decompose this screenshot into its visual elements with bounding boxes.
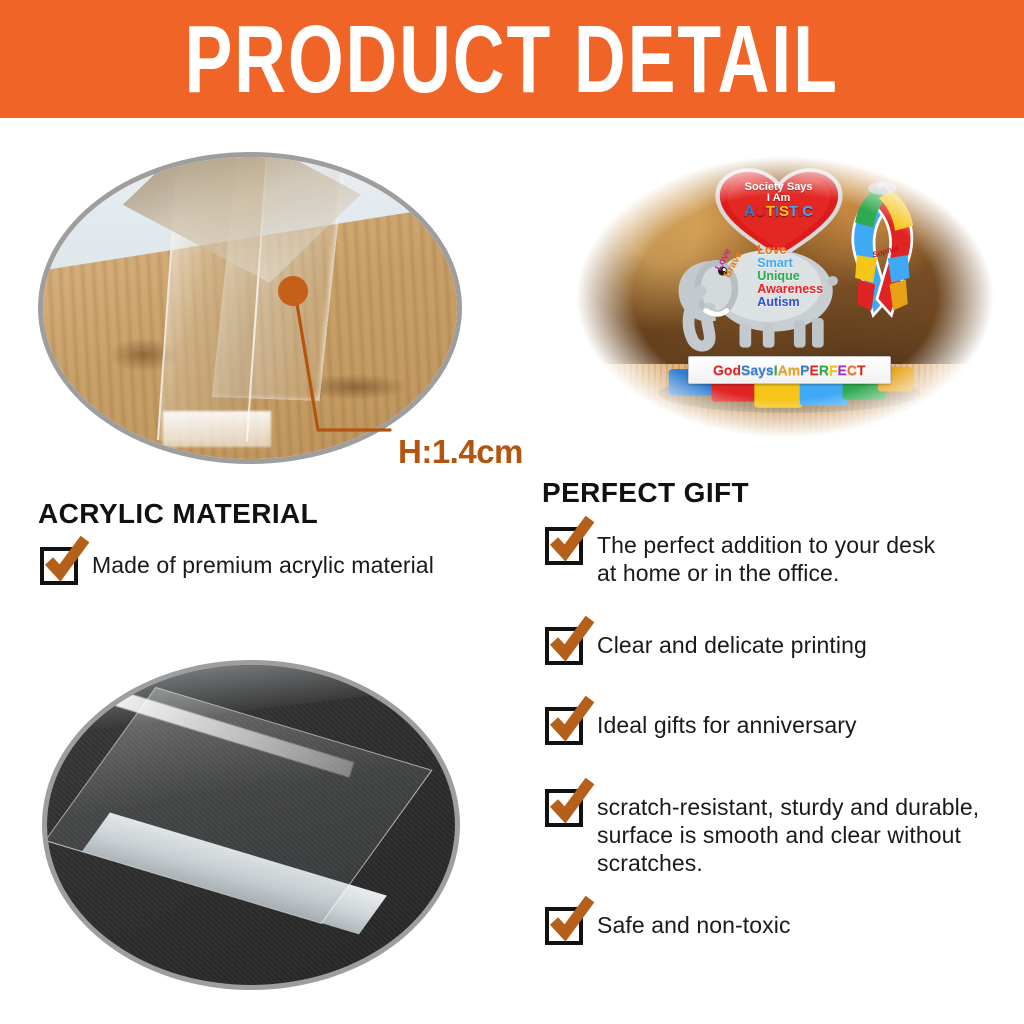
page-header-banner: PRODUCT DETAIL bbox=[0, 0, 1024, 118]
measurement-point-dot bbox=[278, 276, 308, 306]
bullet-label: Ideal gifts for anniversary bbox=[597, 705, 857, 739]
bullet-label: Made of premium acrylic material bbox=[92, 545, 434, 579]
checkbox-icon[interactable] bbox=[545, 789, 583, 827]
elephant-body-words: LoveSmartUniqueAwarenessAutism bbox=[757, 244, 823, 308]
bullet-item: scratch-resistant, sturdy and durable, s… bbox=[545, 787, 1024, 877]
checkmark-icon bbox=[546, 895, 596, 945]
base-plate-message: GodSaysIAmPERFECT bbox=[713, 362, 866, 378]
acrylic-base-glow bbox=[163, 411, 271, 447]
page-title: PRODUCT DETAIL bbox=[185, 11, 839, 106]
bullet-item: Safe and non-toxic bbox=[545, 905, 1015, 945]
bullet-label: Safe and non-toxic bbox=[597, 905, 791, 939]
checkmark-icon bbox=[546, 615, 596, 665]
wood-scene bbox=[43, 157, 457, 459]
checkmark-icon bbox=[546, 777, 596, 827]
bullet-label: The perfect addition to your desk at hom… bbox=[597, 525, 935, 587]
checkmark-icon bbox=[546, 695, 596, 745]
bullet-item: Made of premium acrylic material bbox=[40, 545, 510, 585]
section-title-perfect-gift: PERFECT GIFT bbox=[542, 477, 749, 509]
checkmark-icon bbox=[546, 515, 596, 565]
bullet-item: The perfect addition to your desk at hom… bbox=[545, 525, 1015, 587]
acrylic-block-scene bbox=[47, 665, 455, 985]
acrylic-block-photo bbox=[42, 660, 460, 990]
autism-elephant-plaque-photo: Sophia Society Says I Am AUTISTIC bbox=[570, 152, 1000, 442]
checkbox-icon[interactable] bbox=[40, 547, 78, 585]
section-title-acrylic-material: ACRYLIC MATERIAL bbox=[38, 498, 318, 530]
acrylic-plaque-figure: Sophia Society Says I Am AUTISTIC bbox=[656, 169, 923, 418]
heart-message: Society Says I Am AUTISTIC bbox=[720, 182, 837, 220]
plaque-base-plate: GodSaysIAmPERFECT bbox=[688, 356, 891, 383]
checkbox-icon[interactable] bbox=[545, 627, 583, 665]
bullet-item: Clear and delicate printing bbox=[545, 625, 1015, 665]
heart-line-3-autistic: AUTISTIC bbox=[720, 204, 837, 219]
checkmark-icon bbox=[41, 535, 91, 585]
checkbox-icon[interactable] bbox=[545, 527, 583, 565]
bullet-label: scratch-resistant, sturdy and durable, s… bbox=[597, 787, 979, 877]
bullet-item: Ideal gifts for anniversary bbox=[545, 705, 1015, 745]
product-detail-page: PRODUCT DETAIL H:1.4cm bbox=[0, 0, 1024, 1024]
checkbox-icon[interactable] bbox=[545, 707, 583, 745]
height-dimension-label: H:1.4cm bbox=[398, 433, 523, 471]
checkbox-icon[interactable] bbox=[545, 907, 583, 945]
bullet-label: Clear and delicate printing bbox=[597, 625, 867, 659]
acrylic-edge-photo bbox=[38, 152, 462, 464]
acrylic-edge-scene bbox=[43, 157, 457, 459]
